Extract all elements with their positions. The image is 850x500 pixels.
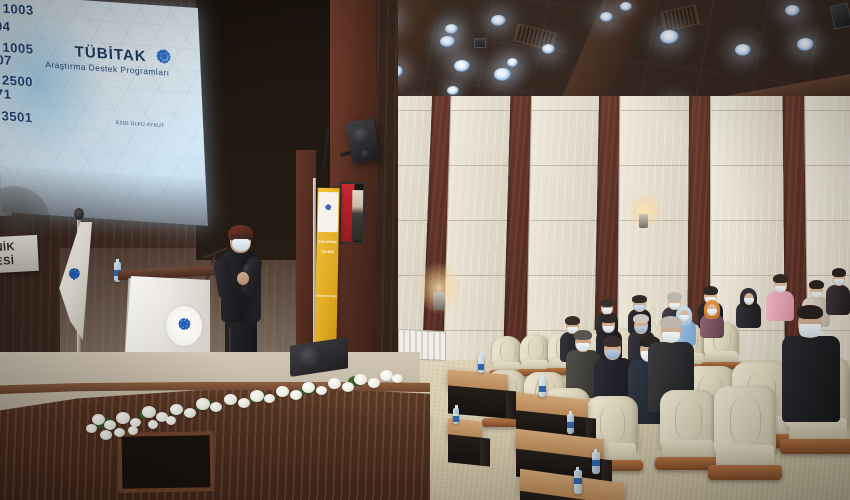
flower-arrangement xyxy=(0,0,850,500)
auditorium-photo: ERZURUM TEKNİK ÜNİVERSİTESİ 1003 1004 10… xyxy=(0,0,850,500)
